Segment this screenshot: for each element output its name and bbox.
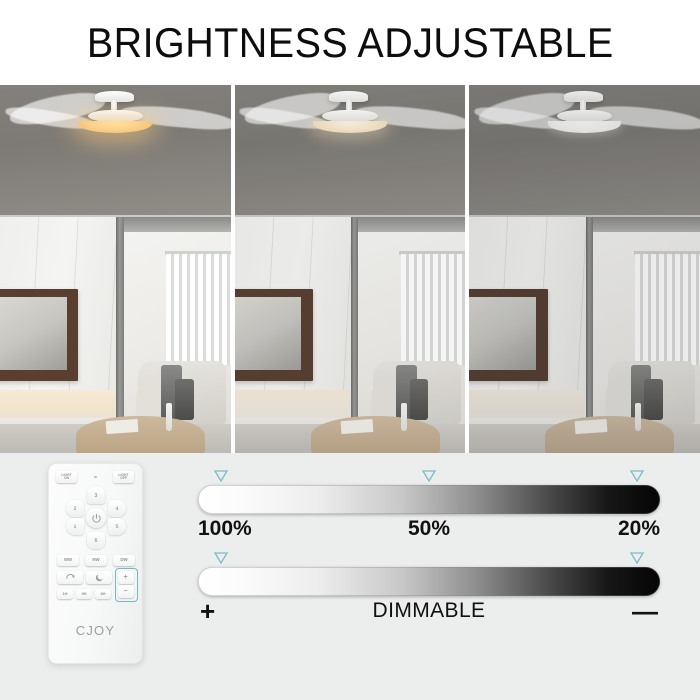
remote-control: LIGHT ON LIGHT OFF 3 2 4 1 5 6 WW NW DW (48, 463, 143, 664)
ceiling-fan (469, 85, 700, 217)
scale-marker-icon (214, 552, 228, 564)
photo-panel-100 (0, 85, 231, 453)
fan-light-dome (313, 121, 387, 133)
color-temp-dw-button[interactable]: DW (113, 555, 135, 566)
photo-panel-50 (235, 85, 466, 453)
ceiling-fan (0, 85, 231, 217)
brightness-gradient-bar[interactable] (198, 485, 660, 514)
scale-marker-icon (214, 470, 228, 482)
scale-marker-icon (422, 470, 436, 482)
bottle (166, 403, 172, 431)
led-indicator (94, 476, 96, 478)
dimmable-label-center: DIMMABLE (373, 599, 486, 623)
dimmable-scale: + DIMMABLE — (198, 567, 660, 625)
book (575, 419, 608, 434)
brightness-label-50: 50% (408, 517, 450, 541)
brightness-scale-labels: 100% 50% 20% (198, 517, 660, 543)
brightness-scale: 100% 50% 20% (198, 485, 660, 543)
reverse-button[interactable] (57, 571, 83, 584)
speed-button-6[interactable]: 6 (87, 532, 105, 549)
bottle (635, 403, 641, 431)
brightness-down-button[interactable]: − (118, 585, 134, 598)
brand-logo: CJOY (48, 623, 143, 638)
window-blinds (635, 254, 700, 364)
color-temp-nw-button[interactable]: NW (85, 555, 107, 566)
speed-button-2[interactable]: 2 (66, 500, 85, 518)
photo-panel-20 (469, 85, 700, 453)
fan-light-dome (78, 121, 152, 133)
brightness-label-100: 100% (198, 517, 252, 541)
brightness-up-button[interactable]: + (118, 571, 134, 584)
dimmable-label-minus: — (632, 596, 658, 627)
light-off-label-line2: OFF (120, 477, 127, 480)
timer-1h-button[interactable]: 1H (57, 589, 73, 599)
light-off-button[interactable]: LIGHT OFF (113, 471, 134, 483)
coffee-table (545, 416, 674, 453)
ceiling-fan (235, 85, 466, 217)
window-blinds (166, 254, 231, 364)
dimmable-label-plus: + (200, 596, 215, 627)
color-temp-ww-button[interactable]: WW (57, 555, 79, 566)
coffee-table (311, 416, 440, 453)
speed-button-5[interactable]: 5 (108, 518, 127, 536)
page-title: BRIGHTNESS ADJUSTABLE (87, 19, 614, 67)
window-blinds (401, 254, 466, 364)
title-bar: BRIGHTNESS ADJUSTABLE (0, 0, 700, 85)
throw-blanket-2 (644, 379, 662, 419)
coffee-table (76, 416, 205, 453)
speed-button-1[interactable]: 1 (66, 518, 85, 536)
dimmable-gradient-bar[interactable] (198, 567, 660, 596)
scale-marker-icon (630, 470, 644, 482)
timer-6h-button[interactable]: 6H (95, 589, 111, 599)
brightness-label-20: 20% (618, 517, 660, 541)
light-on-label-line2: ON (64, 477, 69, 480)
photo-strip (0, 85, 700, 453)
book (106, 419, 139, 434)
power-icon (91, 513, 102, 524)
speed-dial: 3 2 4 1 5 6 (61, 487, 131, 549)
light-on-button[interactable]: LIGHT ON (56, 471, 77, 483)
timer-3h-button[interactable]: 3H (76, 589, 92, 599)
throw-blanket-2 (410, 379, 428, 419)
tv-screen (235, 297, 302, 371)
power-button[interactable] (86, 508, 106, 528)
reverse-icon (65, 573, 76, 582)
tv-screen (0, 297, 67, 371)
speed-button-3[interactable]: 3 (87, 487, 105, 504)
throw-blanket-2 (175, 379, 193, 419)
lower-panel: LIGHT ON LIGHT OFF 3 2 4 1 5 6 WW NW DW (0, 453, 700, 700)
scale-marker-icon (630, 552, 644, 564)
speed-button-4[interactable]: 4 (108, 500, 127, 518)
fan-light-dome (548, 121, 622, 133)
sleep-button[interactable] (86, 571, 112, 584)
dimmable-scale-labels: + DIMMABLE — (198, 599, 660, 625)
book (340, 419, 373, 434)
moon-icon (95, 573, 104, 582)
bottle (401, 403, 407, 431)
tv-screen (469, 297, 536, 371)
